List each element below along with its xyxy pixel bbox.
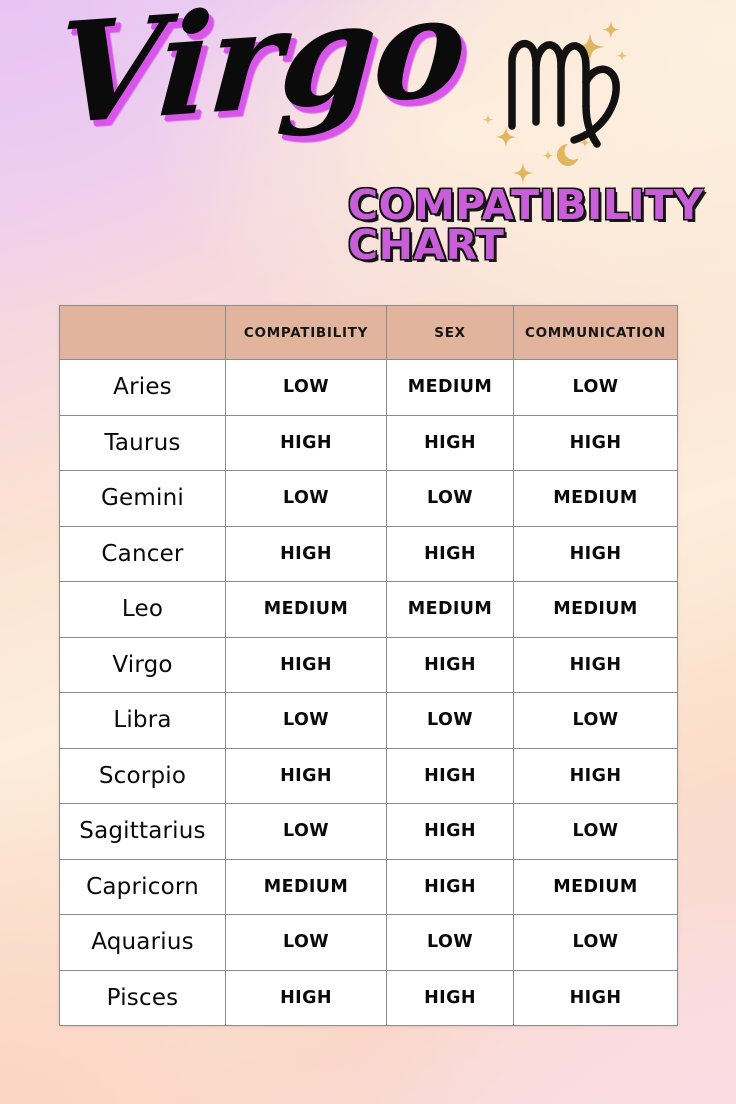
cell-sex: HIGH (387, 748, 514, 804)
virgo-glyph-icon (498, 22, 638, 162)
table-row: ScorpioHIGHHIGHHIGH (60, 748, 678, 804)
cell-compatibility: LOW (226, 471, 387, 527)
cell-sign: Libra (60, 693, 226, 749)
table-row: AquariusLOWLOWLOW (60, 915, 678, 971)
table-body: AriesLOWMEDIUMLOWTaurusHIGHHIGHHIGHGemin… (60, 360, 678, 1026)
cell-sign: Pisces (60, 970, 226, 1026)
cell-compatibility: HIGH (226, 415, 387, 471)
cell-sign: Scorpio (60, 748, 226, 804)
cell-sex: HIGH (387, 970, 514, 1026)
cell-sign: Gemini (60, 471, 226, 527)
cell-sign: Aquarius (60, 915, 226, 971)
cell-sign: Cancer (60, 526, 226, 582)
cell-communication: MEDIUM (514, 582, 678, 638)
table-row: AriesLOWMEDIUMLOW (60, 360, 678, 416)
table-row: CancerHIGHHIGHHIGH (60, 526, 678, 582)
poster-header: Virgo (0, 0, 736, 300)
cell-communication: LOW (514, 360, 678, 416)
column-header-communication: COMMUNICATION (514, 306, 678, 360)
cell-compatibility: HIGH (226, 637, 387, 693)
cell-sign: Taurus (60, 415, 226, 471)
cell-compatibility: HIGH (226, 970, 387, 1026)
cell-compatibility: HIGH (226, 526, 387, 582)
cell-communication: HIGH (514, 748, 678, 804)
cell-sex: LOW (387, 693, 514, 749)
table-row: VirgoHIGHHIGHHIGH (60, 637, 678, 693)
cell-communication: LOW (514, 915, 678, 971)
cell-communication: MEDIUM (514, 859, 678, 915)
cell-communication: LOW (514, 804, 678, 860)
table-row: LeoMEDIUMMEDIUMMEDIUM (60, 582, 678, 638)
cell-sex: MEDIUM (387, 360, 514, 416)
cell-compatibility: LOW (226, 360, 387, 416)
cell-sex: MEDIUM (387, 582, 514, 638)
cell-compatibility: LOW (226, 915, 387, 971)
column-header-sex: SEX (387, 306, 514, 360)
cell-sign: Leo (60, 582, 226, 638)
cell-sex: HIGH (387, 804, 514, 860)
table-row: PiscesHIGHHIGHHIGH (60, 970, 678, 1026)
compatibility-table: COMPATIBILITY SEX COMMUNICATION AriesLOW… (59, 305, 678, 1026)
cell-communication: HIGH (514, 637, 678, 693)
cell-compatibility: HIGH (226, 748, 387, 804)
table-header-row: COMPATIBILITY SEX COMMUNICATION (60, 306, 678, 360)
chart-subtitle-line-2: CHART (348, 226, 708, 266)
cell-communication: LOW (514, 693, 678, 749)
cell-sign: Capricorn (60, 859, 226, 915)
cell-sex: HIGH (387, 526, 514, 582)
cell-compatibility: MEDIUM (226, 582, 387, 638)
cell-sex: HIGH (387, 637, 514, 693)
cell-compatibility: LOW (226, 693, 387, 749)
column-header-compatibility: COMPATIBILITY (226, 306, 387, 360)
cell-sign: Virgo (60, 637, 226, 693)
cell-sex: LOW (387, 915, 514, 971)
cell-compatibility: LOW (226, 804, 387, 860)
table-row: TaurusHIGHHIGHHIGH (60, 415, 678, 471)
cell-sex: HIGH (387, 415, 514, 471)
table-row: SagittariusLOWHIGHLOW (60, 804, 678, 860)
table-row: LibraLOWLOWLOW (60, 693, 678, 749)
cell-sign: Sagittarius (60, 804, 226, 860)
cell-communication: HIGH (514, 526, 678, 582)
table-row: GeminiLOWLOWMEDIUM (60, 471, 678, 527)
table-row: CapricornMEDIUMHIGHMEDIUM (60, 859, 678, 915)
table-header: COMPATIBILITY SEX COMMUNICATION (60, 306, 678, 360)
column-header-sign (60, 306, 226, 360)
cell-sex: LOW (387, 471, 514, 527)
cell-communication: HIGH (514, 970, 678, 1026)
poster-canvas: Virgo (0, 0, 736, 1104)
cell-communication: MEDIUM (514, 471, 678, 527)
chart-subtitle: COMPATIBILITY CHART (348, 186, 708, 266)
cell-communication: HIGH (514, 415, 678, 471)
cell-compatibility: MEDIUM (226, 859, 387, 915)
cell-sign: Aries (60, 360, 226, 416)
page-title: Virgo (52, 0, 469, 144)
cell-sex: HIGH (387, 859, 514, 915)
